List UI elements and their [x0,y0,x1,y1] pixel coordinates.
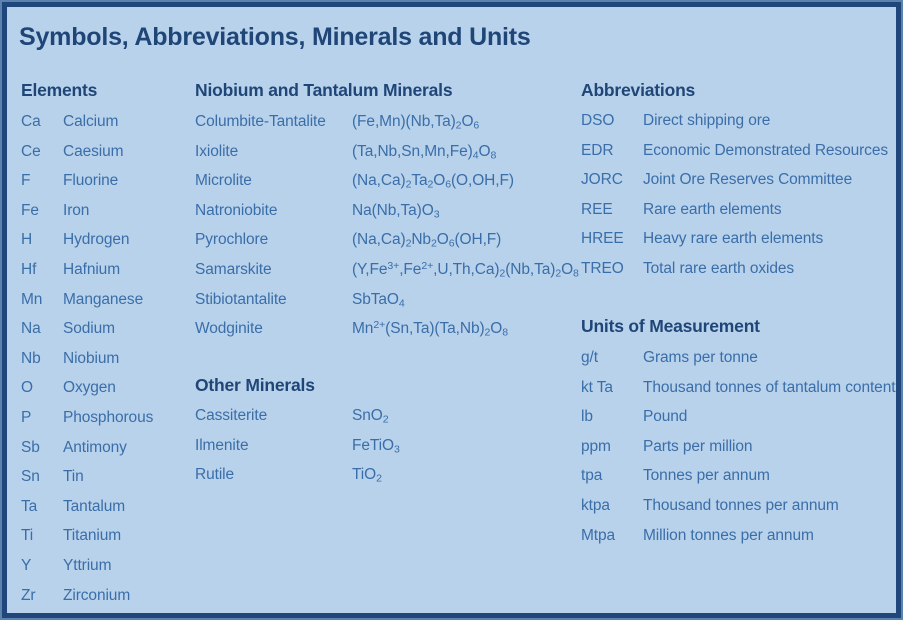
abbreviation-key: JORC [581,171,623,189]
unit-key: ktpa [581,497,610,515]
column-heading-nb-ta-minerals: Niobium and Tantalum Minerals [195,80,452,101]
mineral-name: Natroniobite [195,202,277,220]
column-heading-abbreviations: Abbreviations [581,80,695,101]
element-symbol: Fe [21,202,39,220]
figure-title: Symbols, Abbreviations, Minerals and Uni… [19,23,531,52]
element-name: Sodium [63,320,115,338]
element-name: Titanium [63,527,121,545]
mineral-name: Stibiotantalite [195,291,287,309]
element-symbol: Ti [21,527,33,545]
element-symbol: Sb [21,439,40,457]
element-symbol: H [21,231,32,249]
element-name: Fluorine [63,172,118,190]
mineral-formula: (Na,Ca)2Nb2O6(OH,F) [352,231,501,249]
mineral-formula: (Ta,Nb,Sn,Mn,Fe)4O8 [352,143,496,161]
mineral-formula: Mn2+(Sn,Ta)(Ta,Nb)2O8 [352,320,508,338]
unit-key: Mtpa [581,527,615,545]
element-symbol: Y [21,557,31,575]
element-symbol: O [21,379,33,397]
other-mineral-name: Cassiterite [195,407,267,425]
column-heading-units: Units of Measurement [581,316,760,337]
element-symbol: Nb [21,350,41,368]
abbreviation-meaning: Joint Ore Reserves Committee [643,171,852,189]
mineral-name: Wodginite [195,320,263,338]
element-symbol: Hf [21,261,36,279]
other-mineral-formula: TiO2 [352,466,382,484]
element-name: Antimony [63,439,127,457]
element-name: Hydrogen [63,231,129,249]
element-name: Oxygen [63,379,116,397]
unit-meaning: Grams per tonne [643,349,758,367]
element-symbol: F [21,172,30,190]
element-symbol: Zr [21,587,35,605]
element-name: Phosphorous [63,409,153,427]
unit-key: ppm [581,438,611,456]
element-name: Tantalum [63,498,125,516]
unit-meaning: Pound [643,408,687,426]
element-name: Iron [63,202,89,220]
element-symbol: Sn [21,468,40,486]
element-name: Zirconium [63,587,130,605]
abbreviation-meaning: Direct shipping ore [643,112,770,130]
element-symbol: Ce [21,143,41,161]
column-heading-elements: Elements [21,80,97,101]
other-mineral-name: Rutile [195,466,234,484]
mineral-name: Samarskite [195,261,272,279]
figure-canvas: Symbols, Abbreviations, Minerals and Uni… [7,7,896,613]
abbreviation-key: REE [581,201,613,219]
unit-meaning: Thousand tonnes per annum [643,497,839,515]
glossary-figure: Symbols, Abbreviations, Minerals and Uni… [0,0,903,620]
element-name: Hafnium [63,261,120,279]
mineral-name: Microlite [195,172,252,190]
other-mineral-formula: FeTiO3 [352,437,400,455]
element-symbol: P [21,409,31,427]
mineral-formula: (Na,Ca)2Ta2O6(O,OH,F) [352,172,514,190]
mineral-formula: (Y,Fe3+,Fe2+,U,Th,Ca)2(Nb,Ta)2O8 [352,261,579,279]
abbreviation-meaning: Economic Demonstrated Resources [643,142,888,160]
element-symbol: Na [21,320,41,338]
element-name: Calcium [63,113,118,131]
other-mineral-formula: SnO2 [352,407,388,425]
mineral-formula: (Fe,Mn)(Nb,Ta)2O6 [352,113,479,131]
abbreviation-key: HREE [581,230,624,248]
unit-key: kt Ta [581,379,613,397]
abbreviation-key: EDR [581,142,613,160]
element-symbol: Mn [21,291,42,309]
element-name: Niobium [63,350,119,368]
element-symbol: Ca [21,113,41,131]
mineral-formula: Na(Nb,Ta)O3 [352,202,439,220]
abbreviation-key: TREO [581,260,624,278]
element-name: Manganese [63,291,143,309]
abbreviation-meaning: Rare earth elements [643,201,782,219]
abbreviation-key: DSO [581,112,614,130]
mineral-formula: SbTaO4 [352,291,405,309]
column-heading-other-minerals: Other Minerals [195,375,315,396]
element-name: Yttrium [63,557,111,575]
unit-key: g/t [581,349,598,367]
mineral-name: Ixiolite [195,143,238,161]
element-name: Tin [63,468,84,486]
unit-key: lb [581,408,593,426]
element-name: Caesium [63,143,123,161]
mineral-name: Pyrochlore [195,231,268,249]
abbreviation-meaning: Total rare earth oxides [643,260,794,278]
figure-frame: Symbols, Abbreviations, Minerals and Uni… [2,2,901,618]
unit-meaning: Tonnes per annum [643,467,770,485]
mineral-name: Columbite-Tantalite [195,113,326,131]
element-symbol: Ta [21,498,37,516]
unit-key: tpa [581,467,602,485]
unit-meaning: Parts per million [643,438,752,456]
unit-meaning: Thousand tonnes of tantalum content [643,379,895,397]
abbreviation-meaning: Heavy rare earth elements [643,230,823,248]
other-mineral-name: Ilmenite [195,437,248,455]
unit-meaning: Million tonnes per annum [643,527,814,545]
